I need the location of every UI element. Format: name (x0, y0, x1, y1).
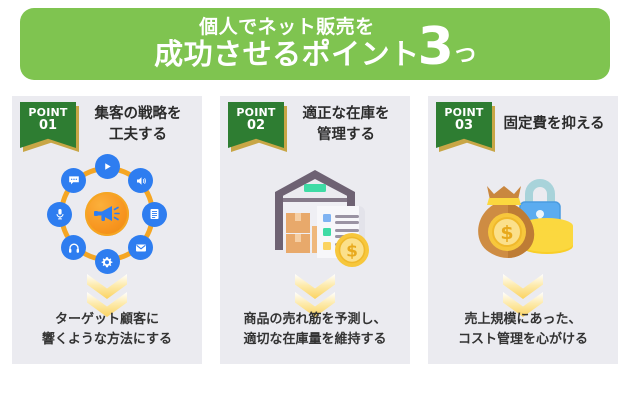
point-card-03: POINT 03 固定費を抑える (428, 96, 618, 364)
ribbon-number: 03 (455, 119, 473, 133)
point-caption-02: 商品の売れ筋を予測し、 適切な在庫量を維持する (220, 310, 410, 350)
point-title-line: 適正な在庫を (286, 104, 406, 125)
point-title-line: 工夫する (78, 125, 198, 146)
point-caption-line: 響くような方法にする (12, 330, 202, 350)
ribbon-label: POINT (444, 107, 483, 119)
play-icon (95, 154, 120, 179)
mail-icon (128, 235, 153, 260)
point-ribbon-02: POINT 02 (228, 102, 284, 152)
ribbon-number: 02 (247, 119, 265, 133)
chat-bubble-icon (61, 168, 86, 193)
point-ribbon-01: POINT 01 (20, 102, 76, 152)
point-caption-03: 売上規模にあった、 コスト管理を心がける (428, 310, 618, 350)
chevron-down-icon (503, 274, 543, 299)
point-illustration-02: $ (220, 154, 410, 274)
point-illustration-01 (12, 154, 202, 274)
point-title-03: 固定費を抑える (494, 114, 614, 135)
header-subtitle: 個人でネット販売を (199, 18, 375, 37)
point-caption-line: コスト管理を心がける (428, 330, 618, 350)
gear-icon (95, 249, 120, 274)
chevron-down-icon (87, 274, 127, 299)
header-title: 成功させるポイント (154, 40, 420, 69)
headphones-icon (61, 235, 86, 260)
header-banner: 個人でネット販売を 成功させるポイント 3 つ (20, 8, 610, 80)
svg-text:$: $ (500, 222, 513, 244)
microphone-icon (47, 202, 72, 227)
header-counter-unit: つ (455, 45, 476, 66)
points-row: POINT 01 集客の戦略を 工夫する (12, 96, 618, 364)
point-ribbon-03: POINT 03 (436, 102, 492, 152)
document-icon (142, 202, 167, 227)
ribbon-label: POINT (28, 107, 67, 119)
point-title-02: 適正な在庫を 管理する (286, 104, 406, 146)
svg-text:$: $ (346, 242, 358, 262)
ribbon-number: 01 (39, 119, 57, 133)
coin-icon: $ (335, 233, 369, 267)
point-caption-line: ターゲット顧客に (12, 310, 202, 330)
point-illustration-03: $ (428, 154, 618, 274)
header-number: 3 (418, 26, 454, 69)
point-title-line: 管理する (286, 125, 406, 146)
speaker-icon (128, 168, 153, 193)
ribbon-label: POINT (236, 107, 275, 119)
point-caption-01: ターゲット顧客に 響くような方法にする (12, 310, 202, 350)
point-card-01: POINT 01 集客の戦略を 工夫する (12, 96, 202, 364)
point-card-02: POINT 02 適正な在庫を 管理する (220, 96, 410, 364)
point-title-line: 固定費を抑える (494, 114, 614, 135)
point-caption-line: 適切な在庫量を維持する (220, 330, 410, 350)
point-caption-line: 商品の売れ筋を予測し、 (220, 310, 410, 330)
point-title-line: 集客の戦略を (78, 104, 198, 125)
infographic-canvas: 個人でネット販売を 成功させるポイント 3 つ POINT 01 集客の戦略を … (0, 0, 630, 400)
point-title-01: 集客の戦略を 工夫する (78, 104, 198, 146)
chevron-down-icon (295, 274, 335, 299)
point-caption-line: 売上規模にあった、 (428, 310, 618, 330)
megaphone-icon (85, 192, 129, 236)
